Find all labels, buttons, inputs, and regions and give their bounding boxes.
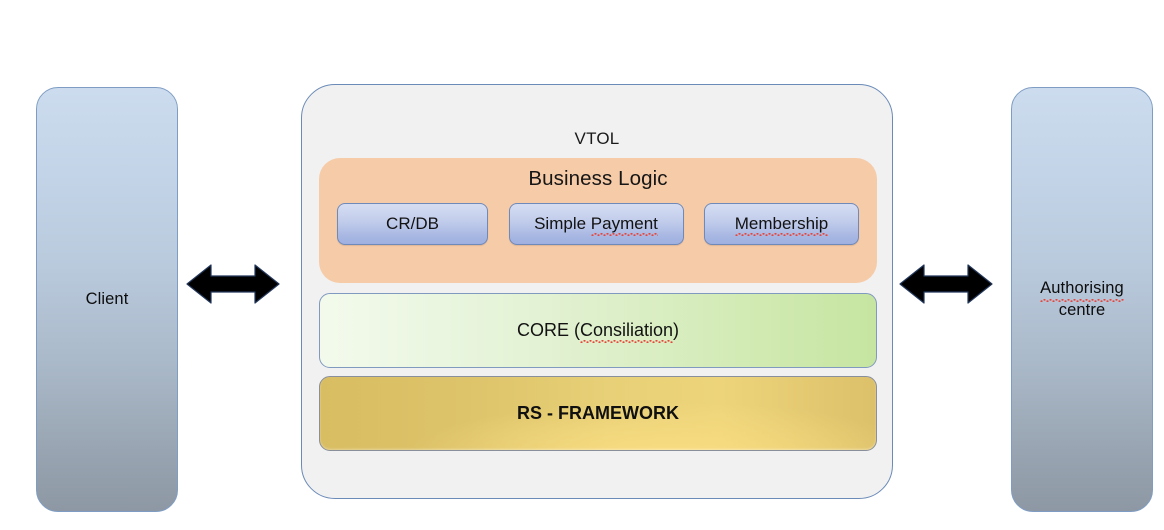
layer-rs-framework-label: RS - FRAMEWORK — [517, 403, 679, 424]
connector-client-to-vtol-arrow — [185, 258, 281, 310]
layer-core[interactable]: CORE (Consiliation) — [319, 293, 877, 368]
connector-vtol-to-authorising-centre-arrow — [898, 258, 994, 310]
layer-business-logic-title: Business Logic — [319, 167, 877, 191]
layer-rs-framework[interactable]: RS - FRAMEWORK — [319, 376, 877, 451]
module-simple-payment-word-simple: Simple — [534, 214, 586, 233]
module-simple-payment-label: Simple Payment — [534, 214, 658, 234]
double-arrow-icon — [898, 258, 994, 310]
module-simple-payment[interactable]: Simple Payment — [509, 203, 684, 245]
vtol-container: VTOL Business Logic CR/DB Simple Payment… — [301, 84, 893, 499]
actor-box-client[interactable]: Client — [36, 87, 178, 512]
layer-core-label: CORE (Consiliation) — [517, 320, 679, 341]
module-cr-db-label: CR/DB — [386, 214, 439, 234]
business-logic-module-list: CR/DB Simple Payment Membership — [337, 203, 859, 245]
module-membership-label: Membership — [735, 214, 829, 234]
layer-core-word-consiliation: Consiliation — [580, 320, 673, 341]
module-simple-payment-word-payment: Payment — [591, 214, 658, 234]
layer-core-word-core: CORE ( — [517, 320, 580, 340]
actor-box-authorising-centre[interactable]: Authorising centre — [1011, 87, 1153, 512]
actor-label-authorising-centre-line-2: centre — [1040, 300, 1124, 322]
actor-label-authorising-centre-line-1: Authorising — [1040, 278, 1124, 300]
actor-label-client-line-1: Client — [86, 290, 129, 308]
module-cr-db[interactable]: CR/DB — [337, 203, 488, 245]
layer-business-logic[interactable]: Business Logic CR/DB Simple Payment Memb… — [319, 158, 877, 283]
double-arrow-icon — [185, 258, 281, 310]
vtol-title: VTOL — [302, 129, 892, 149]
module-membership[interactable]: Membership — [704, 203, 859, 245]
layer-core-word-close: ) — [673, 320, 679, 340]
actor-label-client: Client — [86, 289, 129, 311]
actor-label-authorising-centre: Authorising centre — [1040, 278, 1124, 322]
